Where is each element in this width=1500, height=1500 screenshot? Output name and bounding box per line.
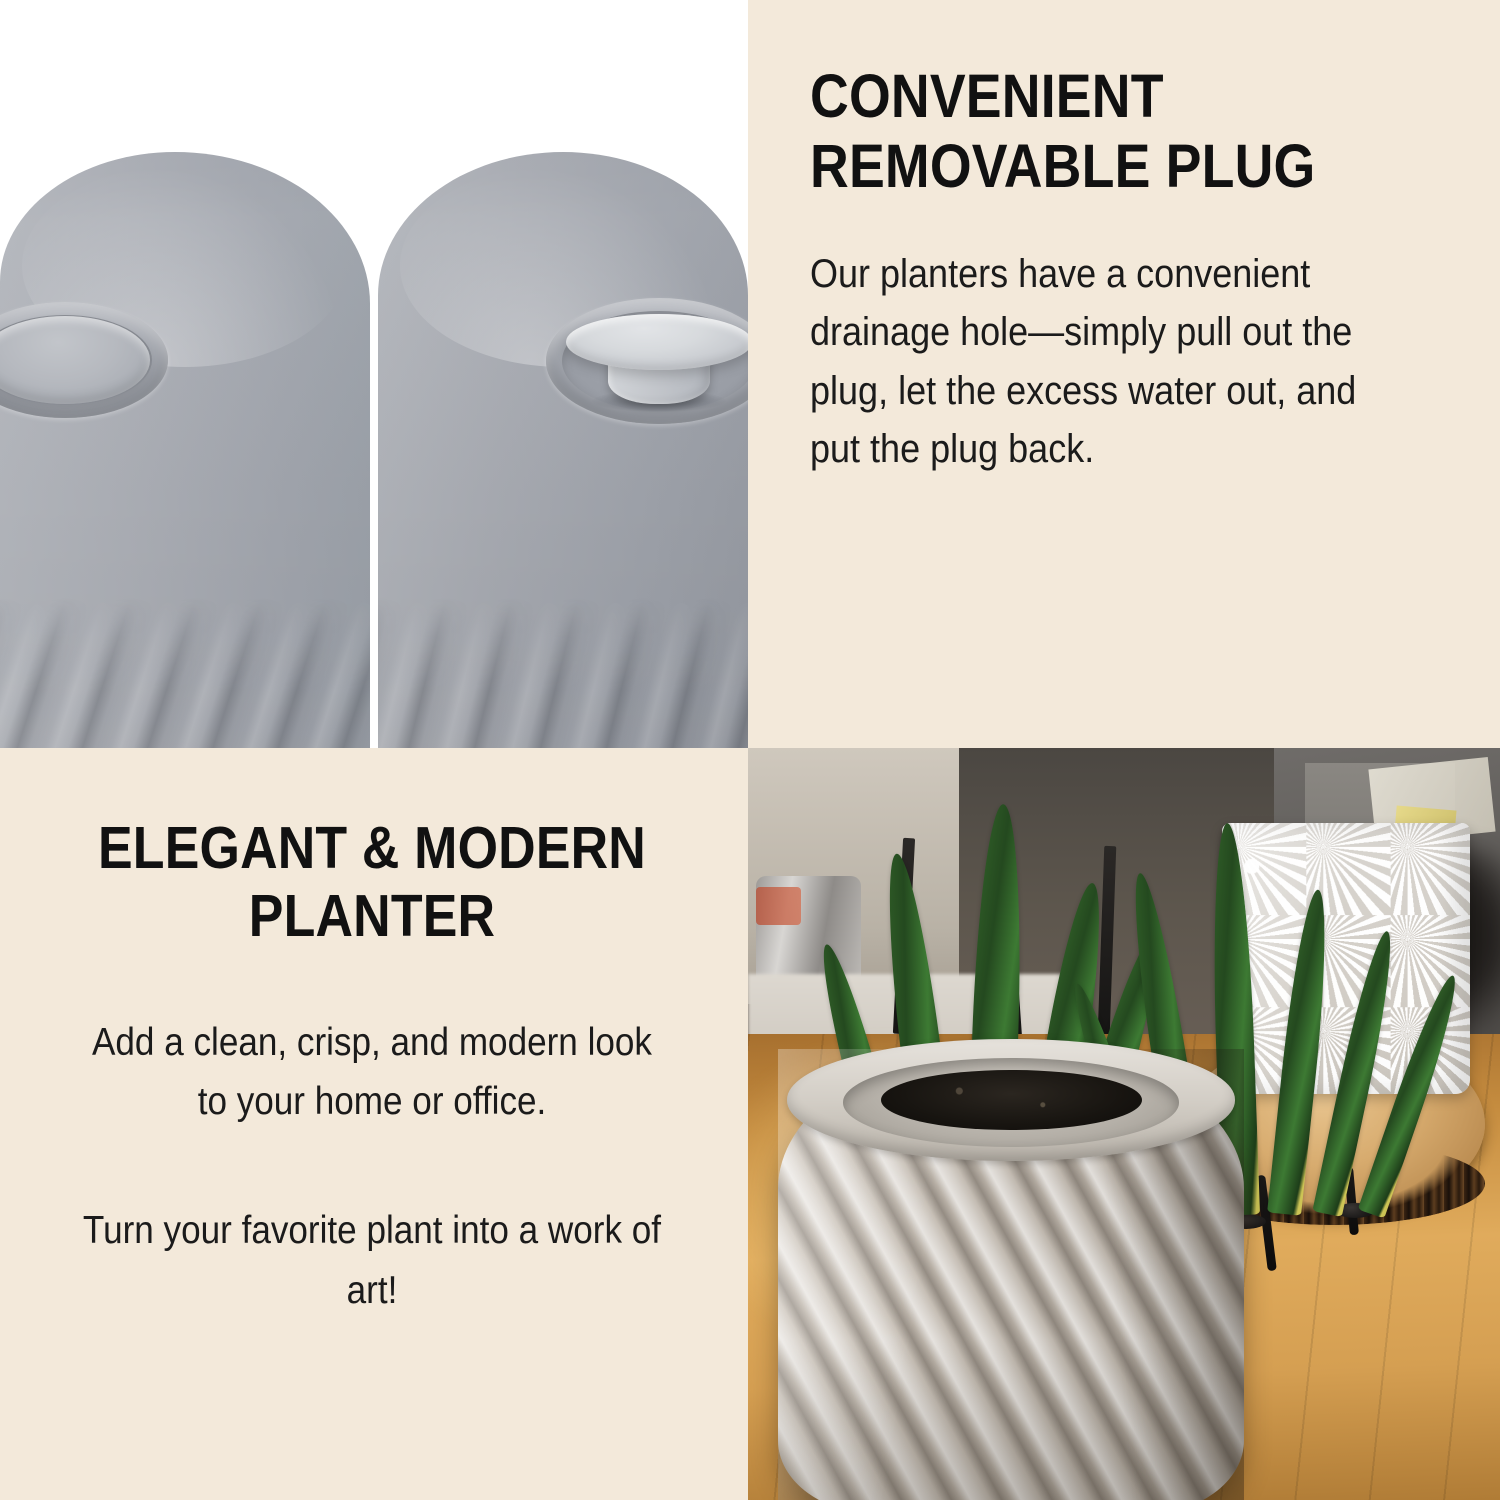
drain-plug-removed xyxy=(566,302,748,410)
removable-plug-body: Our planters have a convenient drainage … xyxy=(810,245,1379,479)
planter-base-plug-seated xyxy=(0,152,370,748)
elegant-modern-body-second: Turn your favorite plant into a work of … xyxy=(77,1201,667,1320)
planter-base-body xyxy=(378,152,748,748)
product-infographic: CONVENIENT REMOVABLE PLUG Our planters h… xyxy=(0,0,1500,1500)
drain-plug-cap xyxy=(566,314,748,370)
elegant-modern-body-first: Add a clean, crisp, and modern look to y… xyxy=(77,1013,667,1132)
removable-plug-heading: CONVENIENT REMOVABLE PLUG xyxy=(810,62,1366,201)
lifestyle-photo-panel xyxy=(748,748,1500,1500)
removable-plug-copy-panel: CONVENIENT REMOVABLE PLUG Our planters h… xyxy=(748,0,1500,748)
planter-base-body xyxy=(0,152,370,748)
hero-fluted-planter xyxy=(778,1049,1244,1500)
potting-soil xyxy=(881,1070,1142,1131)
product-detail-photo-panel xyxy=(0,0,748,748)
elegant-modern-copy-panel: ELEGANT & MODERN PLANTER Add a clean, cr… xyxy=(0,748,748,1500)
elegant-modern-heading: ELEGANT & MODERN PLANTER xyxy=(83,814,660,951)
planter-base-pair xyxy=(0,0,748,748)
planter-base-plug-removed xyxy=(378,152,748,748)
